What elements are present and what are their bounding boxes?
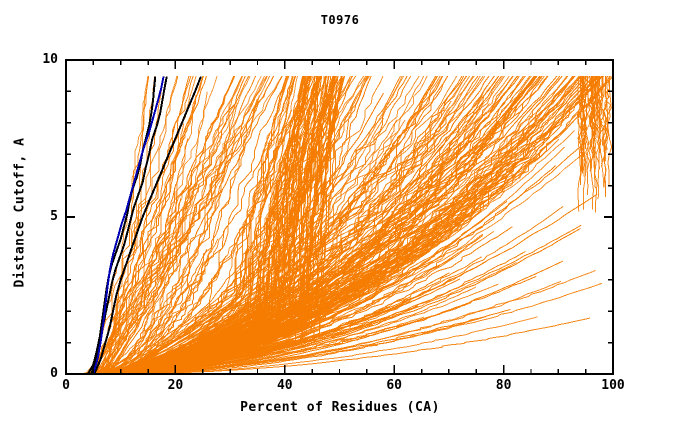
y-tick-label-0: 0 [18, 366, 58, 381]
plot-canvas [0, 0, 680, 440]
x-tick-label-60: 60 [364, 378, 424, 393]
x-axis-label: Percent of Residues (CA) [0, 400, 680, 415]
prediction-ensemble-curves [80, 76, 613, 374]
x-tick-label-100: 100 [583, 378, 643, 393]
y-tick-label-5: 5 [18, 209, 58, 224]
chart-title: T0976 [0, 13, 680, 27]
x-tick-label-80: 80 [474, 378, 534, 393]
y-tick-label-10: 10 [18, 52, 58, 67]
x-tick-label-20: 20 [145, 378, 205, 393]
chart-figure: T0976 Percent of Residues (CA) Distance … [0, 0, 680, 440]
x-tick-label-40: 40 [255, 378, 315, 393]
